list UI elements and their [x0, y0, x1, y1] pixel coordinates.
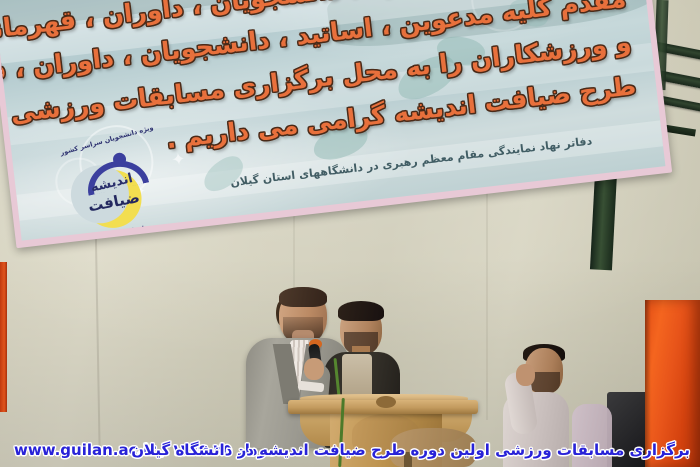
seated-man-hand [516, 364, 535, 386]
zeyafat-andisheh-logo: ویژه دانشجویان سراسر کشور رمضان المبارک … [55, 130, 170, 240]
speaker-hair [279, 287, 327, 307]
caption-event-title: برگزاری مسابقات ورزشی اولین دوره طرح ضیا… [131, 441, 690, 459]
photo-caption-bar: www.guilan.ac.ir / ۱۳۸۹ مرداد ۲۵ برگزاری… [0, 433, 700, 459]
speaker-hand [304, 358, 324, 380]
photograph: ✦ ✦ ✦ ویژه دانشجویان سراسر کشور رمضان ال… [0, 0, 700, 467]
orange-wall-strip [0, 262, 7, 412]
podium-knob [376, 396, 396, 408]
second-man-hair [338, 301, 384, 321]
